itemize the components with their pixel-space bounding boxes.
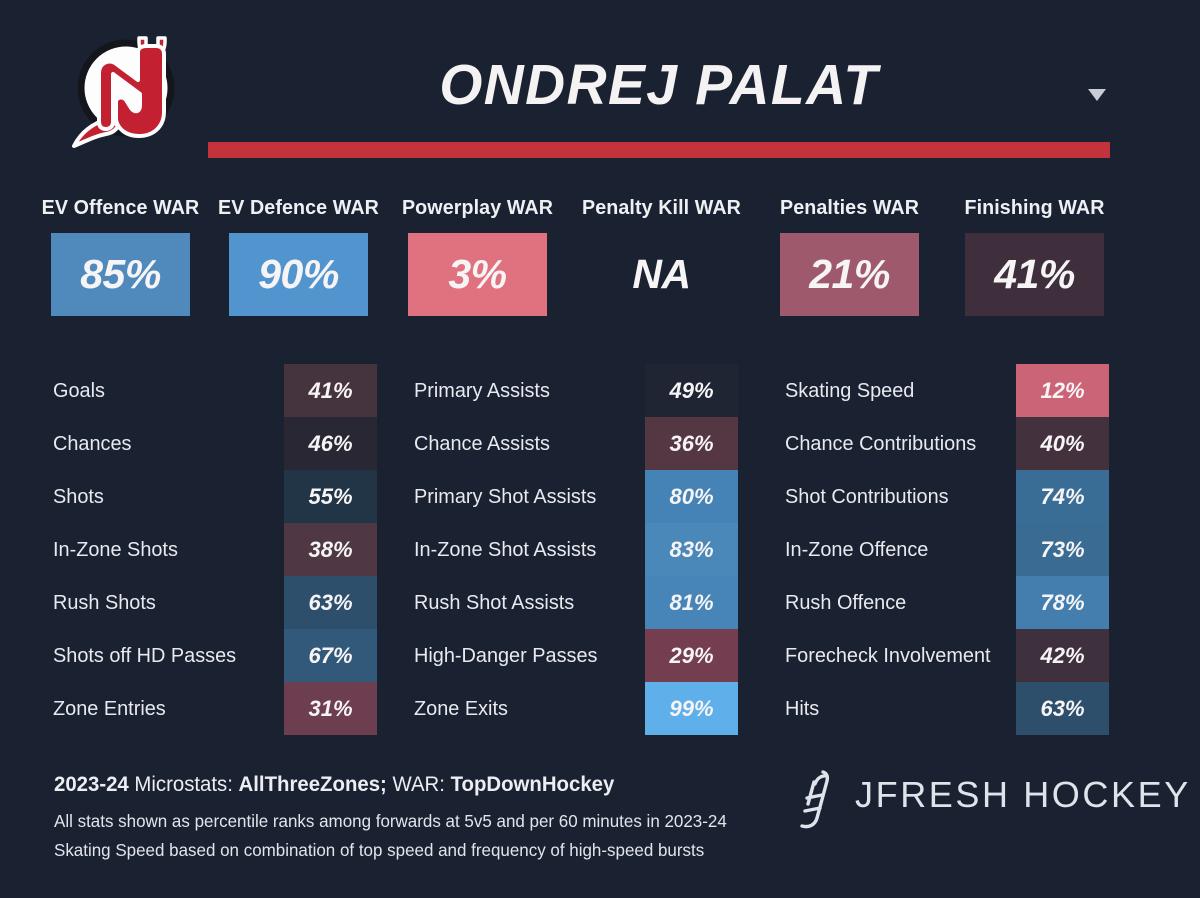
microstat-row: Rush Offence78% bbox=[732, 576, 1103, 629]
page-title: ONDREJ PALAT bbox=[222, 52, 1097, 118]
footnote-skating-speed: Skating Speed based on combination of to… bbox=[54, 840, 704, 861]
microstat-row: Primary Assists49% bbox=[361, 364, 732, 417]
microstat-label: In-Zone Offence bbox=[785, 523, 928, 576]
microstat-label: Hits bbox=[785, 682, 819, 735]
microstat-value: 74% bbox=[1016, 470, 1109, 523]
microstat-label: In-Zone Shot Assists bbox=[414, 523, 596, 576]
microstat-row: Shots55% bbox=[0, 470, 371, 523]
microstat-value: 63% bbox=[1016, 682, 1109, 735]
sources-line: 2023-24 Microstats: AllThreeZones; WAR: … bbox=[54, 773, 614, 797]
microstat-label: Shots bbox=[53, 470, 104, 523]
microstat-row: Chance Contributions40% bbox=[732, 417, 1103, 470]
microstats-grid: Goals41%Chances46%Shots55%In-Zone Shots3… bbox=[0, 364, 1200, 735]
microstat-label: Primary Shot Assists bbox=[414, 470, 596, 523]
war-value: 85% bbox=[51, 233, 190, 316]
war-label: Powerplay WAR bbox=[389, 196, 567, 220]
microstats-column-transition: Skating Speed12%Chance Contributions40%S… bbox=[732, 364, 1103, 735]
microstat-label: High-Danger Passes bbox=[414, 629, 597, 682]
microstat-row: Chances46% bbox=[0, 417, 371, 470]
microstats-column-shooting: Goals41%Chances46%Shots55%In-Zone Shots3… bbox=[0, 364, 371, 735]
war-label: EV Defence WAR bbox=[210, 196, 388, 220]
microstat-label: Chance Contributions bbox=[785, 417, 976, 470]
war-prefix: WAR: bbox=[387, 773, 451, 796]
microstat-row: In-Zone Shots38% bbox=[0, 523, 371, 576]
war-value: 90% bbox=[229, 233, 368, 316]
microstat-value: 42% bbox=[1016, 629, 1109, 682]
microstat-label: Chances bbox=[53, 417, 131, 470]
microstat-row: Rush Shot Assists81% bbox=[361, 576, 732, 629]
microstat-value: 80% bbox=[645, 470, 738, 523]
microstat-value: 78% bbox=[1016, 576, 1109, 629]
microstat-label: Goals bbox=[53, 364, 105, 417]
new-jersey-devils-logo-icon bbox=[66, 26, 190, 150]
microstat-row: Zone Entries31% bbox=[0, 682, 371, 735]
war-card-penalties: Penalties WAR 21% bbox=[757, 196, 942, 316]
war-label: Penalty Kill WAR bbox=[573, 196, 751, 220]
brand-name: JFRESH HOCKEY bbox=[855, 774, 1191, 816]
microstat-row: Zone Exits99% bbox=[361, 682, 732, 735]
microstat-value: 99% bbox=[645, 682, 738, 735]
microstat-value: 83% bbox=[645, 523, 738, 576]
card-header: ONDREJ PALAT bbox=[0, 0, 1200, 180]
war-value: 21% bbox=[780, 233, 919, 316]
war-card-penalty-kill: Penalty Kill WAR NA bbox=[569, 196, 754, 316]
microstat-row: Shot Contributions74% bbox=[732, 470, 1103, 523]
microstats-source: AllThreeZones; bbox=[239, 773, 387, 796]
microstat-row: Rush Shots63% bbox=[0, 576, 371, 629]
microstat-label: Rush Shots bbox=[53, 576, 156, 629]
microstat-row: High-Danger Passes29% bbox=[361, 629, 732, 682]
microstat-value: 36% bbox=[645, 417, 738, 470]
microstat-value: 81% bbox=[645, 576, 738, 629]
microstat-value: 12% bbox=[1016, 364, 1109, 417]
microstat-value: 40% bbox=[1016, 417, 1109, 470]
war-value: 3% bbox=[408, 233, 547, 316]
war-value: 41% bbox=[965, 233, 1104, 316]
microstat-row: Chance Assists36% bbox=[361, 417, 732, 470]
microstat-label: Skating Speed bbox=[785, 364, 914, 417]
war-label: Penalties WAR bbox=[761, 196, 939, 220]
microstat-label: Primary Assists bbox=[414, 364, 550, 417]
microstats-prefix: Microstats: bbox=[129, 773, 239, 796]
war-source: TopDownHockey bbox=[451, 773, 615, 796]
microstat-label: Forecheck Involvement bbox=[785, 629, 991, 682]
microstat-value: 49% bbox=[645, 364, 738, 417]
war-value: NA bbox=[592, 233, 731, 316]
card-footer: 2023-24 Microstats: AllThreeZones; WAR: … bbox=[0, 760, 1200, 898]
microstat-value: 29% bbox=[645, 629, 738, 682]
microstat-label: In-Zone Shots bbox=[53, 523, 178, 576]
war-summary-row: EV Offence WAR 85% EV Defence WAR 90% Po… bbox=[0, 196, 1200, 332]
player-stat-card: ONDREJ PALAT EV Offence WAR 85% EV Defen… bbox=[0, 0, 1200, 898]
brand-lockup: JFRESH HOCKEY bbox=[793, 768, 1113, 830]
microstat-label: Shot Contributions bbox=[785, 470, 949, 523]
microstats-column-passing: Primary Assists49%Chance Assists36%Prima… bbox=[361, 364, 732, 735]
microstat-row: Shots off HD Passes67% bbox=[0, 629, 371, 682]
war-card-powerplay: Powerplay WAR 3% bbox=[385, 196, 570, 316]
microstat-row: Primary Shot Assists80% bbox=[361, 470, 732, 523]
footnote-percentile: All stats shown as percentile ranks amon… bbox=[54, 811, 727, 832]
war-card-ev-defence: EV Defence WAR 90% bbox=[206, 196, 391, 316]
season-label: 2023-24 bbox=[54, 773, 129, 796]
chevron-down-icon[interactable] bbox=[1087, 88, 1107, 102]
microstat-label: Rush Shot Assists bbox=[414, 576, 574, 629]
microstat-row: In-Zone Offence73% bbox=[732, 523, 1103, 576]
jfresh-hockey-stick-monogram-icon bbox=[793, 768, 845, 830]
microstat-label: Zone Entries bbox=[53, 682, 166, 735]
war-label: EV Offence WAR bbox=[32, 196, 210, 220]
microstat-row: Goals41% bbox=[0, 364, 371, 417]
microstat-row: Skating Speed12% bbox=[732, 364, 1103, 417]
microstat-label: Rush Offence bbox=[785, 576, 906, 629]
microstat-label: Chance Assists bbox=[414, 417, 550, 470]
microstat-label: Shots off HD Passes bbox=[53, 629, 236, 682]
war-card-ev-offence: EV Offence WAR 85% bbox=[28, 196, 213, 316]
microstat-row: Forecheck Involvement42% bbox=[732, 629, 1103, 682]
microstat-row: Hits63% bbox=[732, 682, 1103, 735]
war-card-finishing: Finishing WAR 41% bbox=[942, 196, 1127, 316]
microstat-value: 73% bbox=[1016, 523, 1109, 576]
microstat-label: Zone Exits bbox=[414, 682, 508, 735]
war-label: Finishing WAR bbox=[946, 196, 1124, 220]
microstat-row: In-Zone Shot Assists83% bbox=[361, 523, 732, 576]
title-accent-rule bbox=[208, 142, 1110, 158]
